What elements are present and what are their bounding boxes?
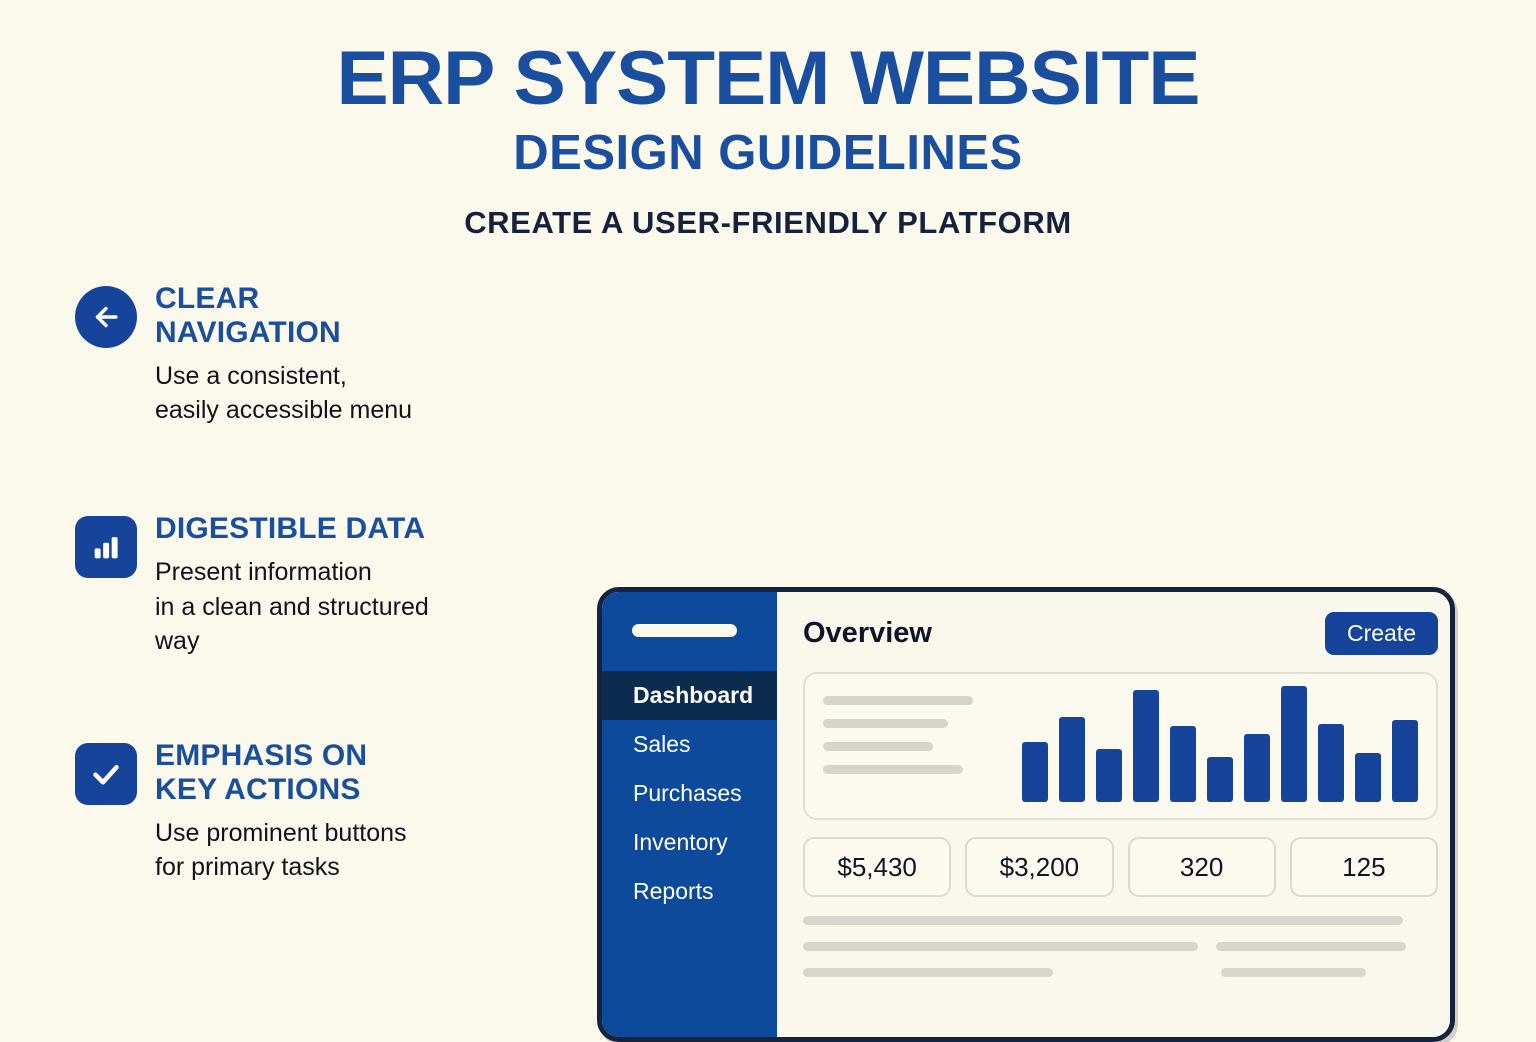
feature-emphasis-key-actions: Emphasis on Key Actions Use prominent bu… <box>75 739 407 884</box>
bar-chart <box>1008 686 1418 802</box>
page-tagline: Create a user-friendly platform <box>0 192 1536 254</box>
sidebar-item-sales[interactable]: Sales <box>602 720 777 769</box>
placeholder-row <box>803 942 1438 951</box>
placeholder-row <box>803 968 1438 977</box>
feature-description: Present information in a clean and struc… <box>155 555 429 659</box>
infographic-header: ERP System Website Design Guidelines Cre… <box>0 0 1536 254</box>
panel-title: Overview <box>803 617 932 650</box>
bar-4 <box>1133 690 1159 803</box>
bar-8 <box>1281 686 1307 802</box>
logo-pill <box>632 624 737 637</box>
arrow-left-circle-icon <box>75 286 137 348</box>
feature-icon-wrap <box>75 739 137 884</box>
placeholder-line <box>1216 942 1406 951</box>
sidebar-item-inventory[interactable]: Inventory <box>602 818 777 867</box>
kpi-card: 320 <box>1128 837 1276 897</box>
skeleton-line <box>823 742 933 751</box>
mockup-panel: Overview Create $5,430 $3,200 320 125 <box>777 592 1455 1037</box>
chart-card <box>803 672 1438 820</box>
feature-text: Emphasis on Key Actions Use prominent bu… <box>155 739 407 884</box>
feature-description: Use a consistent, easily accessible menu <box>155 359 412 428</box>
chart-skeleton-text <box>823 674 1008 802</box>
bar-11 <box>1392 720 1418 802</box>
kpi-card: $5,430 <box>803 837 951 897</box>
feature-description: Use prominent buttons for primary tasks <box>155 816 407 885</box>
sidebar-nav: Dashboard Sales Purchases Inventory Repo… <box>602 671 777 916</box>
feature-text: Clear Navigation Use a consistent, easil… <box>155 282 412 427</box>
placeholder-line <box>1221 968 1366 977</box>
content-placeholder-rows <box>803 916 1438 977</box>
skeleton-line <box>823 696 973 705</box>
mockup-sidebar: Dashboard Sales Purchases Inventory Repo… <box>602 592 777 1037</box>
bar-9 <box>1318 724 1344 803</box>
bar-7 <box>1244 734 1270 802</box>
infographic-body: Clear Navigation Use a consistent, easil… <box>0 254 1536 974</box>
bar-6 <box>1207 757 1233 802</box>
feature-title: Emphasis on Key Actions <box>155 739 407 806</box>
placeholder-row <box>803 916 1438 925</box>
kpi-card: 125 <box>1290 837 1438 897</box>
bar-3 <box>1096 749 1122 802</box>
create-button[interactable]: Create <box>1325 612 1438 655</box>
skeleton-line <box>823 765 963 774</box>
sidebar-item-reports[interactable]: Reports <box>602 867 777 916</box>
page-subtitle: Design Guidelines <box>0 116 1536 192</box>
kpi-card: $3,200 <box>965 837 1113 897</box>
page-title: ERP System Website <box>0 42 1536 116</box>
feature-text: Digestible Data Present information in a… <box>155 512 429 658</box>
feature-digestible-data: Digestible Data Present information in a… <box>75 512 429 658</box>
feature-icon-wrap <box>75 512 137 658</box>
feature-title: Clear Navigation <box>155 282 412 349</box>
panel-header: Overview Create <box>803 612 1438 655</box>
bar-1 <box>1022 742 1048 802</box>
skeleton-line <box>823 719 948 728</box>
bar-5 <box>1170 726 1196 803</box>
bar-10 <box>1355 753 1381 803</box>
placeholder-line <box>803 942 1198 951</box>
bar-chart-icon <box>75 516 137 578</box>
sidebar-item-purchases[interactable]: Purchases <box>602 769 777 818</box>
check-square-icon <box>75 743 137 805</box>
placeholder-line <box>803 916 1403 925</box>
feature-icon-wrap <box>75 282 137 427</box>
kpi-row: $5,430 $3,200 320 125 <box>803 837 1438 897</box>
sidebar-item-dashboard[interactable]: Dashboard <box>602 671 777 720</box>
dashboard-mockup: Dashboard Sales Purchases Inventory Repo… <box>597 587 1455 1042</box>
bar-2 <box>1059 717 1085 803</box>
feature-title: Digestible Data <box>155 512 429 546</box>
placeholder-line <box>803 968 1053 977</box>
feature-clear-navigation: Clear Navigation Use a consistent, easil… <box>75 282 412 427</box>
